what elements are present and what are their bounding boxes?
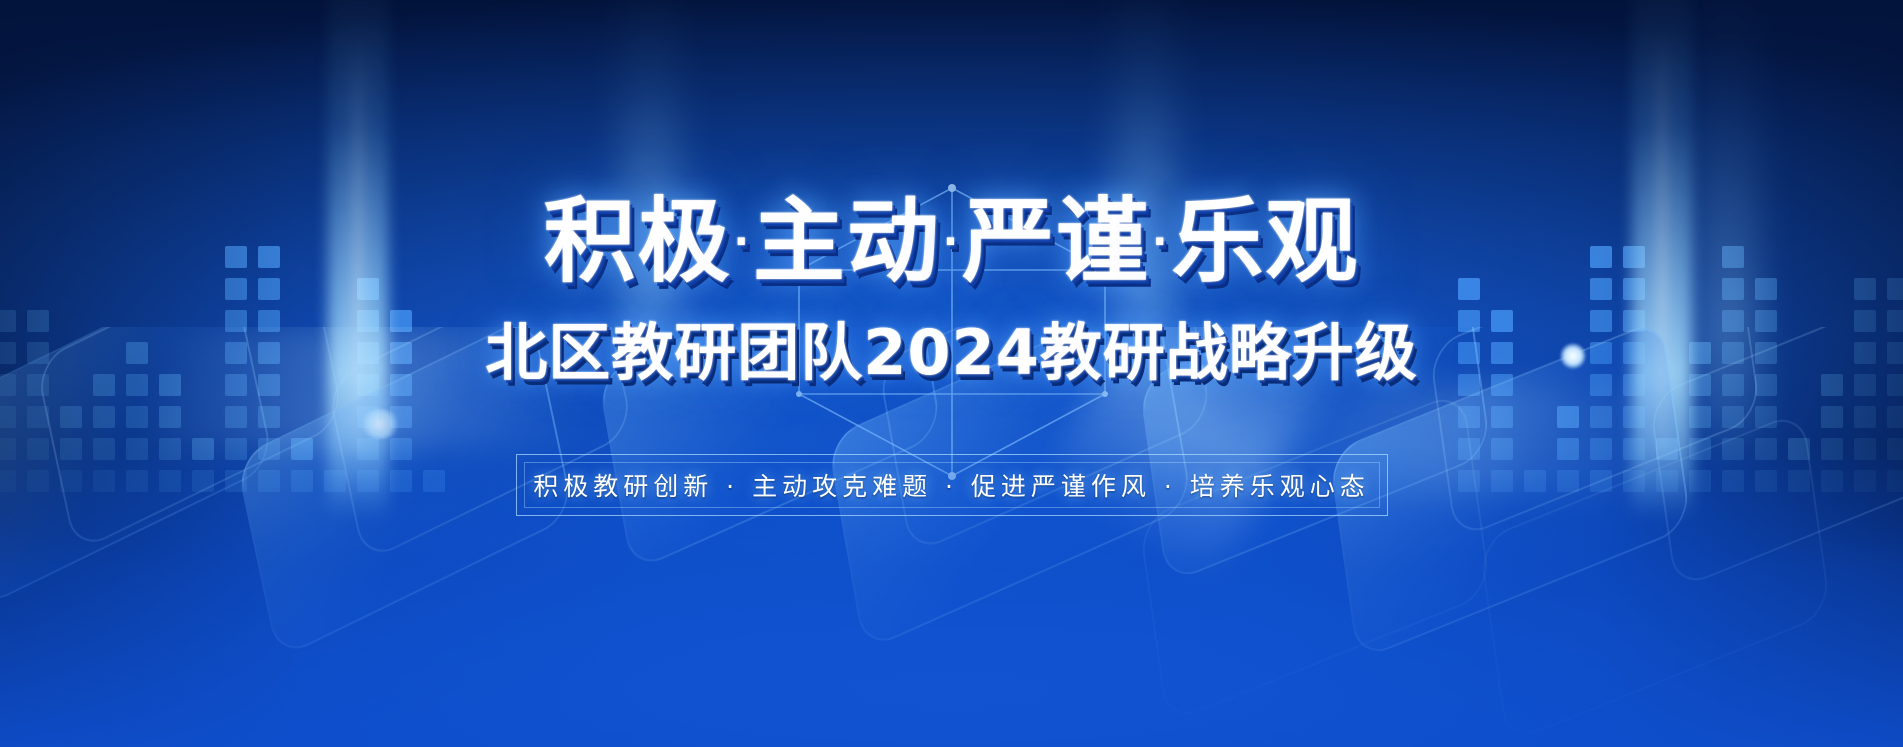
title-separator-icon: · — [1150, 219, 1171, 265]
banner-stage: 积极·主动·严谨·乐观 北区教研团队2024教研战略升级 积极教研创新 · 主动… — [0, 0, 1903, 747]
title-separator-icon: · — [941, 219, 962, 265]
title-word: 积极 — [544, 188, 732, 295]
title-word: 主动 — [753, 188, 941, 295]
title-separator-icon: · — [732, 219, 753, 265]
banner-content: 积极·主动·严谨·乐观 北区教研团队2024教研战略升级 积极教研创新 · 主动… — [0, 0, 1903, 747]
title-word: 严谨 — [962, 188, 1150, 295]
title-word: 乐观 — [1171, 188, 1359, 295]
tagline-frame: 积极教研创新 · 主动攻克难题 · 促进严谨作风 · 培养乐观心态 — [516, 454, 1388, 516]
page-subtitle: 北区教研团队2024教研战略升级 — [0, 322, 1903, 384]
page-title: 积极·主动·严谨·乐观 — [0, 196, 1903, 288]
tagline-text: 积极教研创新 · 主动攻克难题 · 促进严谨作风 · 培养乐观心态 — [533, 467, 1370, 503]
